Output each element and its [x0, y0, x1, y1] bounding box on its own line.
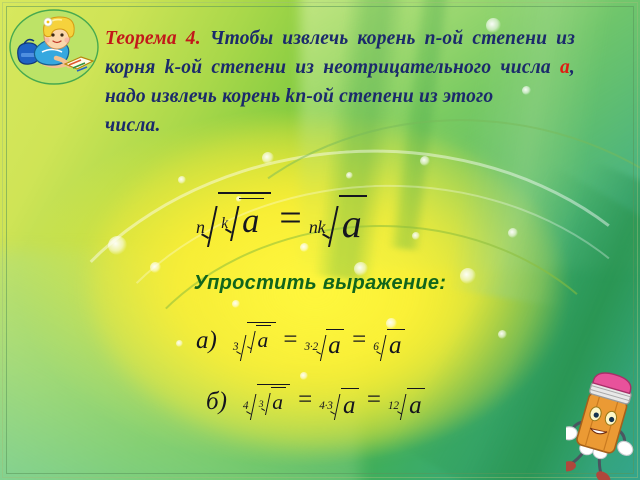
radical-body: a — [271, 387, 286, 415]
example-marker: б) — [206, 388, 227, 416]
presentation-slide: Теорема 4. Чтобы извлечь корень n-ой сте… — [0, 0, 640, 480]
radical-index: nk — [309, 218, 325, 236]
radicand: a — [389, 332, 402, 359]
outer-radical: 4 3a — [243, 384, 291, 420]
radicand: a — [343, 392, 356, 419]
radical-body: a — [326, 329, 344, 360]
radicand: a — [328, 332, 341, 359]
main-formula: n ka = nka — [196, 192, 369, 247]
example-a-formula: а) 3 a = 3·2a = 6a — [196, 322, 406, 360]
equals-sign: = — [352, 326, 366, 357]
radical-index: k — [221, 216, 228, 231]
theorem-last-line: числа. — [105, 111, 575, 140]
middle-radical: 4·3a — [319, 388, 360, 419]
equals-sign: = — [279, 194, 302, 246]
radical-body: a — [256, 325, 271, 353]
radical-body: a — [247, 322, 276, 360]
radical-index: 3·2 — [305, 342, 318, 353]
result-radical: nka — [309, 195, 369, 248]
radical-index: 4 — [243, 401, 248, 412]
middle-radical: 3·2a — [305, 329, 346, 360]
example-marker: а) — [196, 327, 217, 355]
example-b-formula: б) 4 3a = 4·3a = 12a — [206, 384, 426, 420]
outer-radical: n ka — [196, 192, 272, 247]
equals-sign: = — [283, 326, 297, 357]
inner-radical: a — [249, 325, 272, 353]
equals-sign: = — [367, 386, 381, 417]
radical-body: 3a — [257, 384, 291, 420]
section-subtitle: Упростить выражение: — [0, 272, 640, 295]
radical-body: a — [407, 388, 425, 419]
radical-body: a — [239, 198, 264, 241]
radicand: a — [242, 202, 259, 240]
radical-index: 3 — [259, 400, 264, 410]
theorem-label: Теорема 4. — [105, 28, 201, 49]
radical-index: 4·3 — [319, 401, 332, 412]
radicand: a — [272, 390, 283, 414]
equals-sign: = — [298, 386, 312, 417]
radicand: a — [342, 201, 362, 246]
outer-radical: 3 a — [233, 322, 277, 360]
inner-radical: 3a — [259, 387, 287, 415]
radical-body: ka — [218, 192, 271, 247]
radical-index: 6 — [373, 342, 378, 353]
girl-reading-book-icon — [8, 6, 100, 88]
radical-body: a — [339, 195, 368, 248]
theorem-statement: Теорема 4. Чтобы извлечь корень n-ой сте… — [105, 24, 575, 140]
radical-body: a — [387, 329, 405, 360]
radical-body: a — [341, 388, 359, 419]
radicand: a — [258, 328, 269, 352]
radical-index: n — [196, 218, 205, 236]
radical-index: 3 — [233, 342, 238, 353]
cartoon-pencil-character-icon — [566, 368, 638, 480]
result-radical: 6a — [373, 329, 406, 360]
radicand: a — [409, 392, 422, 419]
radical-index: 12 — [388, 401, 399, 412]
inner-radical: ka — [221, 198, 265, 241]
theorem-highlight-a: а — [560, 57, 570, 78]
result-radical: 12a — [388, 388, 426, 419]
